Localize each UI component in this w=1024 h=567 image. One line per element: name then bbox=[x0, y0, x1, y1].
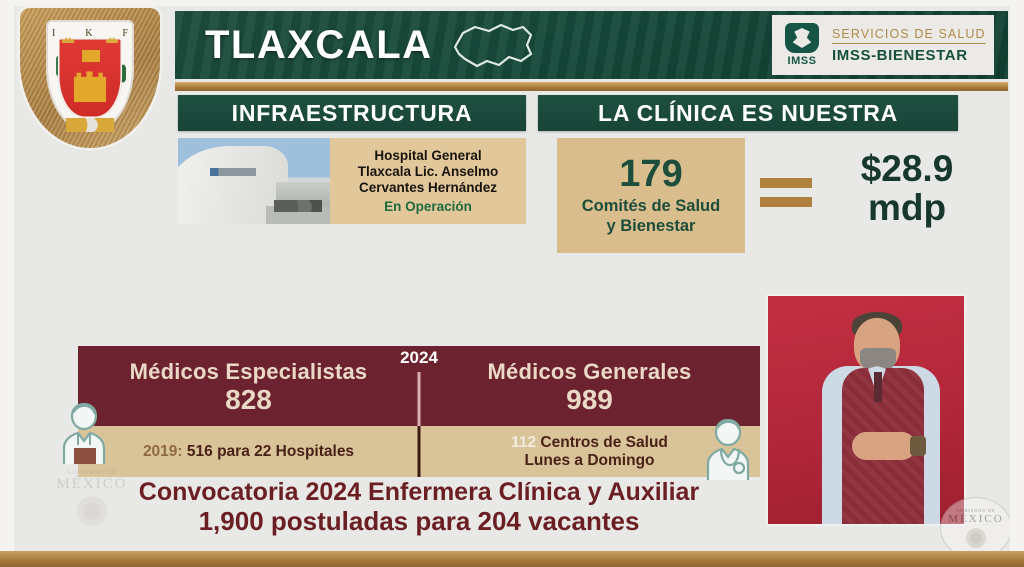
crest-banner-icon bbox=[82, 50, 100, 62]
header-bar: TLAXCALA IMSS SERVICIOS DE SALUD IMSS-BI… bbox=[175, 11, 1008, 79]
hospital-status-badge: En Operación bbox=[384, 199, 472, 214]
tlaxcala-coat-of-arms: I K F bbox=[14, 6, 166, 154]
comites-stat-box: 179 Comités de Salud y Bienestar bbox=[557, 138, 745, 253]
page-title: TLAXCALA bbox=[205, 23, 433, 68]
doctor-icon-left bbox=[56, 396, 112, 466]
convocatoria-block: Convocatoria 2024 Enfermera Clínica y Au… bbox=[78, 478, 760, 537]
watermark-right-mexico: MÉXICO bbox=[948, 513, 1003, 525]
crest-base-ornament-icon bbox=[66, 118, 114, 132]
year-tag: 2024 bbox=[400, 348, 438, 368]
slide-canvas: I K F TLAXCALA IMSS SERVICIOS DE SALUD I… bbox=[0, 0, 1024, 567]
crest-castle-icon bbox=[74, 68, 106, 102]
crest-letter-i: I bbox=[52, 28, 55, 39]
imss-eagle-icon: IMSS bbox=[780, 22, 824, 68]
hospital-photo bbox=[178, 138, 330, 224]
header-gold-divider bbox=[175, 82, 1008, 91]
comites-label-line-1: Comités de Salud bbox=[582, 197, 720, 216]
section-title-infraestructura: INFRAESTRUCTURA bbox=[178, 95, 526, 131]
frame-left bbox=[0, 0, 14, 551]
generales-footnote-count: 112 bbox=[511, 434, 536, 451]
hospital-name-line-1: Hospital General bbox=[358, 148, 499, 164]
hospital-name-line-3: Cervantes Hernández bbox=[358, 180, 499, 196]
hospital-name: Hospital General Tlaxcala Lic. Anselmo C… bbox=[358, 148, 499, 196]
imss-wordmark: IMSS bbox=[788, 55, 817, 67]
gobierno-de-mexico-badge-right: GOBIERNO DE MÉXICO bbox=[940, 497, 1012, 559]
sign-language-interpreter-video[interactable] bbox=[768, 296, 964, 524]
gobierno-de-mexico-watermark-left: GOBIERNO DE MÉXICO bbox=[46, 470, 138, 526]
generales-count: 989 bbox=[566, 384, 613, 416]
imss-text-lines: SERVICIOS DE SALUD IMSS-BIENESTAR bbox=[832, 27, 986, 64]
especialistas-block: Médicos Especialistas 828 bbox=[78, 346, 419, 426]
clinic-amount: $28.9 mdp bbox=[832, 150, 982, 228]
doctors-divider-upper bbox=[418, 372, 421, 426]
hospital-name-line-2: Tlaxcala Lic. Anselmo bbox=[358, 164, 499, 180]
infrastructure-card: Hospital General Tlaxcala Lic. Anselmo C… bbox=[178, 138, 526, 224]
convocatoria-line-1: Convocatoria 2024 Enfermera Clínica y Au… bbox=[78, 478, 760, 507]
mexico-seal-icon bbox=[77, 496, 107, 526]
crest-letters: I K F bbox=[52, 28, 128, 39]
especialistas-count: 828 bbox=[225, 384, 272, 416]
convocatoria-line-2: 1,900 postuladas para 204 vacantes bbox=[78, 507, 760, 537]
section-title-clinica: LA CLÍNICA ES NUESTRA bbox=[538, 95, 958, 131]
generales-footnote-text: Centros de Salud bbox=[540, 434, 667, 451]
especialistas-label: Médicos Especialistas bbox=[130, 359, 368, 385]
generales-footnote-line-2: Lunes a Domingo bbox=[511, 452, 668, 470]
generales-label: Médicos Generales bbox=[488, 359, 692, 385]
especialistas-footnote-year: 2019: bbox=[143, 443, 183, 460]
watermark-left-mexico: MÉXICO bbox=[46, 476, 138, 493]
doctor-icon-right bbox=[700, 412, 756, 482]
crest-letter-f: F bbox=[122, 28, 128, 39]
frame-top bbox=[0, 0, 1024, 6]
doctors-panel: Médicos Especialistas 828 Médicos Genera… bbox=[78, 346, 760, 477]
frame-right bbox=[1010, 0, 1024, 551]
imss-line-servicios: SERVICIOS DE SALUD bbox=[832, 27, 986, 44]
clinic-amount-value: $28.9 bbox=[832, 150, 982, 189]
equals-sign-icon bbox=[760, 178, 812, 210]
imss-line-bienestar: IMSS-BIENESTAR bbox=[832, 47, 986, 64]
imss-bienestar-logo: IMSS SERVICIOS DE SALUD IMSS-BIENESTAR bbox=[772, 15, 994, 75]
hospital-info: Hospital General Tlaxcala Lic. Anselmo C… bbox=[330, 138, 526, 224]
comites-label-line-2: y Bienestar bbox=[582, 217, 720, 236]
clinic-amount-unit: mdp bbox=[832, 189, 982, 228]
comites-count: 179 bbox=[619, 155, 682, 193]
crest-letter-k: K bbox=[85, 28, 92, 39]
especialistas-footnote-text: 516 para 22 Hospitales bbox=[187, 443, 354, 460]
doctors-divider-lower bbox=[418, 426, 421, 477]
comites-label: Comités de Salud y Bienestar bbox=[582, 197, 720, 235]
footer-gold-bar bbox=[0, 551, 1024, 567]
mexico-seal-right-icon bbox=[966, 528, 986, 548]
tlaxcala-state-map-icon bbox=[449, 21, 535, 71]
